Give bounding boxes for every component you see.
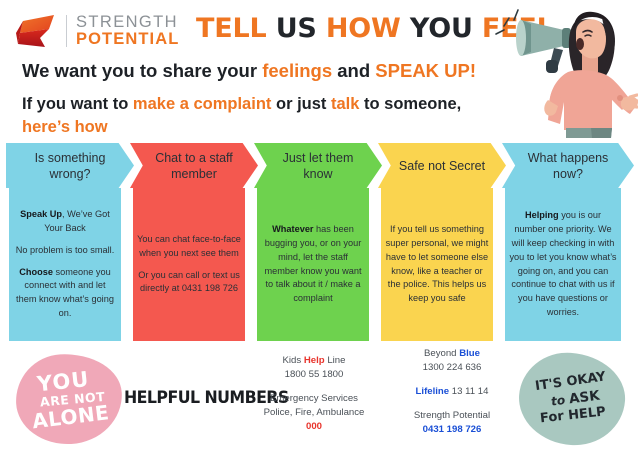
- step-card-3-body: Whatever has been bugging you, or on you…: [257, 188, 369, 341]
- sticker-line-for-help: For HELP: [540, 406, 607, 426]
- step-card-1-para-3: Choose someone you connect with and let …: [13, 266, 117, 321]
- step-card-1-para-3-bold: Choose: [19, 267, 53, 277]
- header: STRENGTH POTENTIAL TELL US HOW YOU FEEL …: [0, 0, 640, 140]
- logo-divider: [66, 15, 67, 47]
- sticker-word-ask: ASK: [568, 388, 600, 408]
- subtitle-secondary-e: to someone,: [359, 95, 461, 113]
- step-card-5-header: What happens now?: [502, 143, 634, 188]
- sticker-word-to: to: [550, 392, 570, 408]
- step-card-4-heading: Safe not Secret: [378, 143, 506, 188]
- lifeline-number[interactable]: 13 11 14: [449, 386, 488, 397]
- title-part-3: HOW: [326, 13, 401, 44]
- step-card-3-para-1: Whatever has been bugging you, or on you…: [261, 223, 365, 306]
- step-card-2-para-2-rest: Or you can call or text us directly at 0…: [138, 270, 240, 294]
- strength-potential-logo-icon: [14, 11, 60, 51]
- subtitle-secondary-c: or just: [271, 95, 331, 113]
- kids-help-line-post: Line: [325, 355, 346, 366]
- subtitle-secondary-complaint: make a complaint: [133, 95, 271, 113]
- sticker-its-okay-text: IT'S OKAY to ASK For HELP: [519, 353, 625, 445]
- step-card-safe-not-secret[interactable]: Safe not Secret If you tell us something…: [378, 143, 506, 343]
- step-card-2-header: Chat to a staff member: [130, 143, 258, 188]
- step-card-2-para-1-rest: You can chat face-to-face when you next …: [137, 234, 241, 258]
- kids-help-line-pre: Kids: [283, 355, 304, 366]
- step-card-3-para-1-bold: Whatever: [272, 224, 313, 234]
- title-part-2: US: [276, 13, 317, 44]
- step-card-is-something-wrong[interactable]: Is something wrong? Speak Up, We’ve Got …: [6, 143, 134, 343]
- helpful-numbers-column-2: Beyond Blue 1300 224 636 Lifeline 13 11 …: [386, 347, 518, 437]
- brand-logo: STRENGTH POTENTIAL: [14, 8, 184, 54]
- subtitle-secondary-talk: talk: [331, 95, 359, 113]
- lifeline-label: Lifeline 13 11 14: [386, 385, 518, 399]
- step-card-4-para-1: If you tell us something super personal,…: [385, 223, 489, 306]
- beyond-blue-highlight: Blue: [459, 348, 480, 359]
- kids-help-line-label: Kids Help Line: [248, 354, 380, 368]
- lifeline-highlight: Lifeline: [416, 386, 450, 397]
- beyond-blue-number[interactable]: 1300 224 636: [386, 361, 518, 375]
- step-card-just-let-them-know[interactable]: Just let them know Whatever has been bug…: [254, 143, 382, 343]
- step-card-4-header: Safe not Secret: [378, 143, 506, 188]
- strength-potential-number[interactable]: 0431 198 726: [386, 423, 518, 437]
- sticker-you-are-not-alone-text: YOU ARE NOT ALONE: [16, 354, 122, 444]
- strength-potential-label: Strength Potential: [386, 409, 518, 423]
- subtitle-primary: We want you to share your feelings and S…: [22, 60, 476, 82]
- title-part-1: TELL: [196, 13, 266, 44]
- subtitle-secondary: If you want to make a complaint or just …: [22, 93, 492, 140]
- subtitle-primary-c: and: [332, 60, 375, 81]
- step-card-chat-to-a-staff-member[interactable]: Chat to a staff member You can chat face…: [130, 143, 258, 343]
- woman-with-megaphone-illustration: [490, 2, 638, 138]
- emergency-services-sublabel: Police, Fire, Ambulance: [248, 406, 380, 420]
- step-card-2-para-1: You can chat face-to-face when you next …: [137, 233, 241, 261]
- step-card-1-para-2: No problem is too small.: [13, 244, 117, 258]
- step-card-5-para-1-rest: you is our number one priority. We will …: [509, 210, 616, 317]
- beyond-blue-pre: Beyond: [424, 348, 459, 359]
- step-card-4-para-1-rest: If you tell us something super personal,…: [386, 224, 489, 303]
- logo-word-strength: STRENGTH: [76, 14, 179, 31]
- subtitle-primary-feelings: feelings: [262, 60, 332, 81]
- subtitle-secondary-a: If you want to: [22, 95, 133, 113]
- step-card-5-para-1: Helping you is our number one priority. …: [509, 209, 617, 319]
- subtitle-secondary-heres-how: here’s how: [22, 118, 108, 136]
- step-card-1-body: Speak Up, We’ve Got Your Back No problem…: [9, 188, 121, 341]
- helpful-number-beyond-blue: Beyond Blue 1300 224 636: [386, 347, 518, 375]
- step-card-5-body: Helping you is our number one priority. …: [505, 188, 621, 341]
- step-card-1-heading: Is something wrong?: [6, 143, 134, 188]
- step-card-1-para-2-rest: No problem is too small.: [16, 245, 115, 255]
- step-card-3-header: Just let them know: [254, 143, 382, 188]
- step-card-2-heading: Chat to a staff member: [130, 143, 258, 188]
- sticker-its-okay-to-ask-for-help: IT'S OKAY to ASK For HELP: [519, 353, 625, 445]
- step-card-1-para-1-bold: Speak Up: [20, 209, 62, 219]
- logo-word-potential: POTENTIAL: [76, 31, 179, 48]
- footer-section: YOU ARE NOT ALONE HELPFUL NUMBERS Kids H…: [0, 345, 640, 453]
- step-card-5-heading: What happens now?: [502, 143, 634, 188]
- step-card-5-para-1-bold: Helping: [525, 210, 559, 220]
- process-steps: Is something wrong? Speak Up, We’ve Got …: [0, 143, 640, 345]
- helpful-number-strength-potential: Strength Potential 0431 198 726: [386, 409, 518, 437]
- sticker-you-are-not-alone: YOU ARE NOT ALONE: [16, 354, 122, 444]
- step-card-3-para-1-rest: has been bugging you, or on your mind, l…: [264, 224, 361, 303]
- step-card-1-header: Is something wrong?: [6, 143, 134, 188]
- helpful-number-lifeline: Lifeline 13 11 14: [386, 385, 518, 399]
- step-card-3-heading: Just let them know: [254, 143, 382, 188]
- emergency-services-label: Emergency Services: [248, 392, 380, 406]
- subtitle-primary-a: We want you to share your: [22, 60, 262, 81]
- beyond-blue-label: Beyond Blue: [386, 347, 518, 361]
- helpful-numbers-column-1: Kids Help Line 1800 55 1800 Emergency Se…: [248, 354, 380, 434]
- kids-help-line-number[interactable]: 1800 55 1800: [248, 368, 380, 382]
- subtitle-primary-speakup: SPEAK UP!: [375, 60, 476, 81]
- logo-wordmark: STRENGTH POTENTIAL: [76, 14, 179, 48]
- emergency-services-number[interactable]: 000: [248, 420, 380, 434]
- title-part-4: YOU: [410, 13, 473, 44]
- step-card-2-body: You can chat face-to-face when you next …: [133, 188, 245, 341]
- step-card-2-para-2: Or you can call or text us directly at 0…: [137, 269, 241, 297]
- helpful-number-emergency-services: Emergency Services Police, Fire, Ambulan…: [248, 392, 380, 434]
- kids-help-line-highlight: Help: [304, 355, 325, 366]
- step-card-what-happens-now[interactable]: What happens now? Helping you is our num…: [502, 143, 634, 343]
- helpful-number-kids-help-line: Kids Help Line 1800 55 1800: [248, 354, 380, 382]
- step-card-4-body: If you tell us something super personal,…: [381, 188, 493, 341]
- step-card-1-para-1: Speak Up, We’ve Got Your Back: [13, 208, 117, 236]
